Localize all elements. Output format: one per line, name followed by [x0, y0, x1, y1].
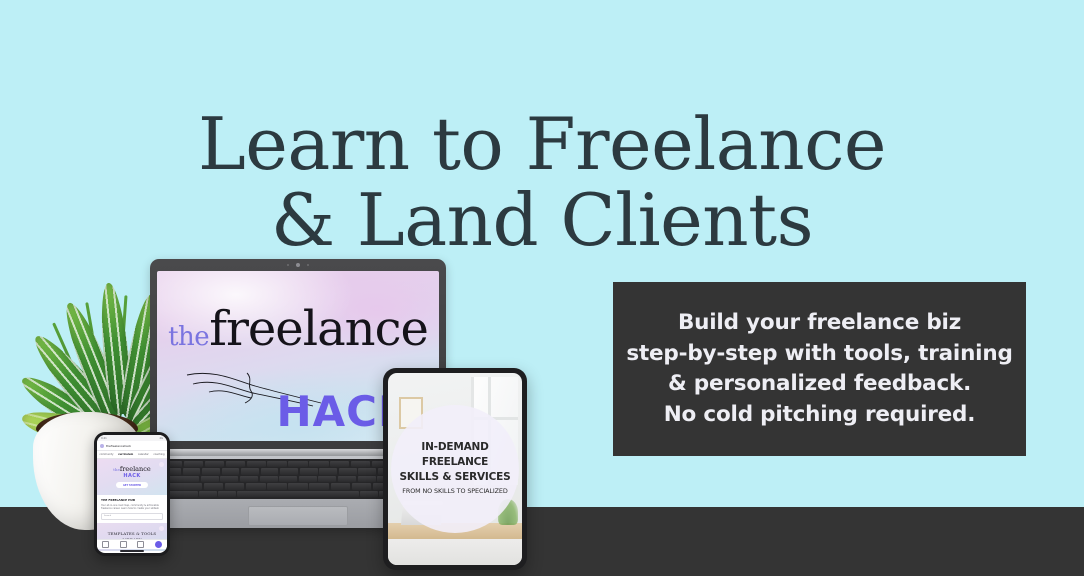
phone-nav-tabs[interactable]: community curriculum calendar coaching — [97, 451, 167, 459]
nav-item-community[interactable]: community — [99, 453, 113, 456]
home-icon[interactable] — [102, 541, 109, 548]
camera-sensor-icon — [287, 264, 289, 266]
freelance-hack-logo: thefreelance HACK — [157, 305, 439, 353]
office-floor — [388, 539, 522, 565]
webcam-icon — [296, 263, 300, 267]
copy-line-3: & personalized feedback. — [626, 369, 1012, 400]
promo-banner: Learn to Freelance & Land Clients — [0, 0, 1084, 576]
card-badge-icon — [159, 526, 164, 531]
phone-logo-hack: HACK — [123, 474, 140, 479]
nav-item-calendar[interactable]: calendar — [138, 453, 149, 456]
logo-the-text: the — [168, 322, 209, 352]
hero-badge-icon — [159, 462, 164, 467]
copy-line-2: step-by-step with tools, training — [626, 339, 1012, 370]
phone-card-line-1: TEMPLATES & TOOLS — [108, 531, 156, 537]
tablet-subline: FROM NO SKILLS TO SPECIALIZED — [388, 485, 522, 498]
tablet-mockup: IN-DEMAND FREELANCE SKILLS & SERVICES FR… — [383, 368, 527, 570]
phone-cta-button[interactable]: GET STARTED — [116, 482, 148, 488]
tablet-screen: IN-DEMAND FREELANCE SKILLS & SERVICES FR… — [388, 373, 522, 565]
tablet-headline: IN-DEMAND FREELANCE SKILLS & SERVICES FR… — [388, 440, 522, 498]
profile-icon[interactable] — [155, 541, 162, 548]
laptop-trackpad — [248, 506, 348, 526]
nav-item-curriculum[interactable]: curriculum — [118, 453, 133, 456]
phone-hero: thefreelance HACK GET STARTED — [97, 459, 167, 495]
logo-freelance-text: freelance — [209, 301, 428, 357]
phone-search-input[interactable]: Search — [101, 513, 163, 520]
phone-home-indicator — [120, 550, 144, 551]
phone-browser-bar[interactable]: thefreelancehack — [97, 441, 167, 451]
status-signal: 4G — [159, 437, 163, 440]
phone-section-body: Your all-in-one road map, community & ac… — [101, 504, 163, 511]
nav-item-coaching[interactable]: coaching — [153, 453, 164, 456]
phone-logo-primary: thefreelance — [113, 466, 150, 473]
tablet-line-2: FREELANCE — [388, 455, 522, 470]
phone-tab-bar[interactable] — [97, 539, 167, 549]
value-proposition-box: Build your freelance biz step-by-step wi… — [613, 282, 1026, 456]
value-proposition-text: Build your freelance biz step-by-step wi… — [626, 308, 1012, 430]
phone-mockup: 9:41 4G thefreelancehack community curri… — [94, 432, 170, 556]
tablet-line-3: SKILLS & SERVICES — [388, 470, 522, 485]
site-avatar-icon — [100, 444, 104, 448]
camera-sensor-icon — [307, 264, 309, 266]
phone-logo-freelance: freelance — [120, 465, 151, 473]
tablet-line-1: IN-DEMAND — [388, 440, 522, 455]
copy-line-4: No cold pitching required. — [626, 400, 1012, 431]
phone-section-heading: THE FREELANCE HUB — [101, 498, 163, 502]
phone-screen: 9:41 4G thefreelancehack community curri… — [97, 435, 167, 553]
status-time: 9:41 — [101, 437, 107, 440]
phone-content-section: THE FREELANCE HUB Your all-in-one road m… — [97, 495, 167, 523]
copy-line-1: Build your freelance biz — [626, 308, 1012, 339]
browser-title: thefreelancehack — [106, 444, 131, 448]
library-icon[interactable] — [120, 541, 127, 548]
logo-primary-row: thefreelance — [157, 305, 439, 353]
laptop-camera-row — [150, 263, 446, 267]
bookmark-icon[interactable] — [137, 541, 144, 548]
